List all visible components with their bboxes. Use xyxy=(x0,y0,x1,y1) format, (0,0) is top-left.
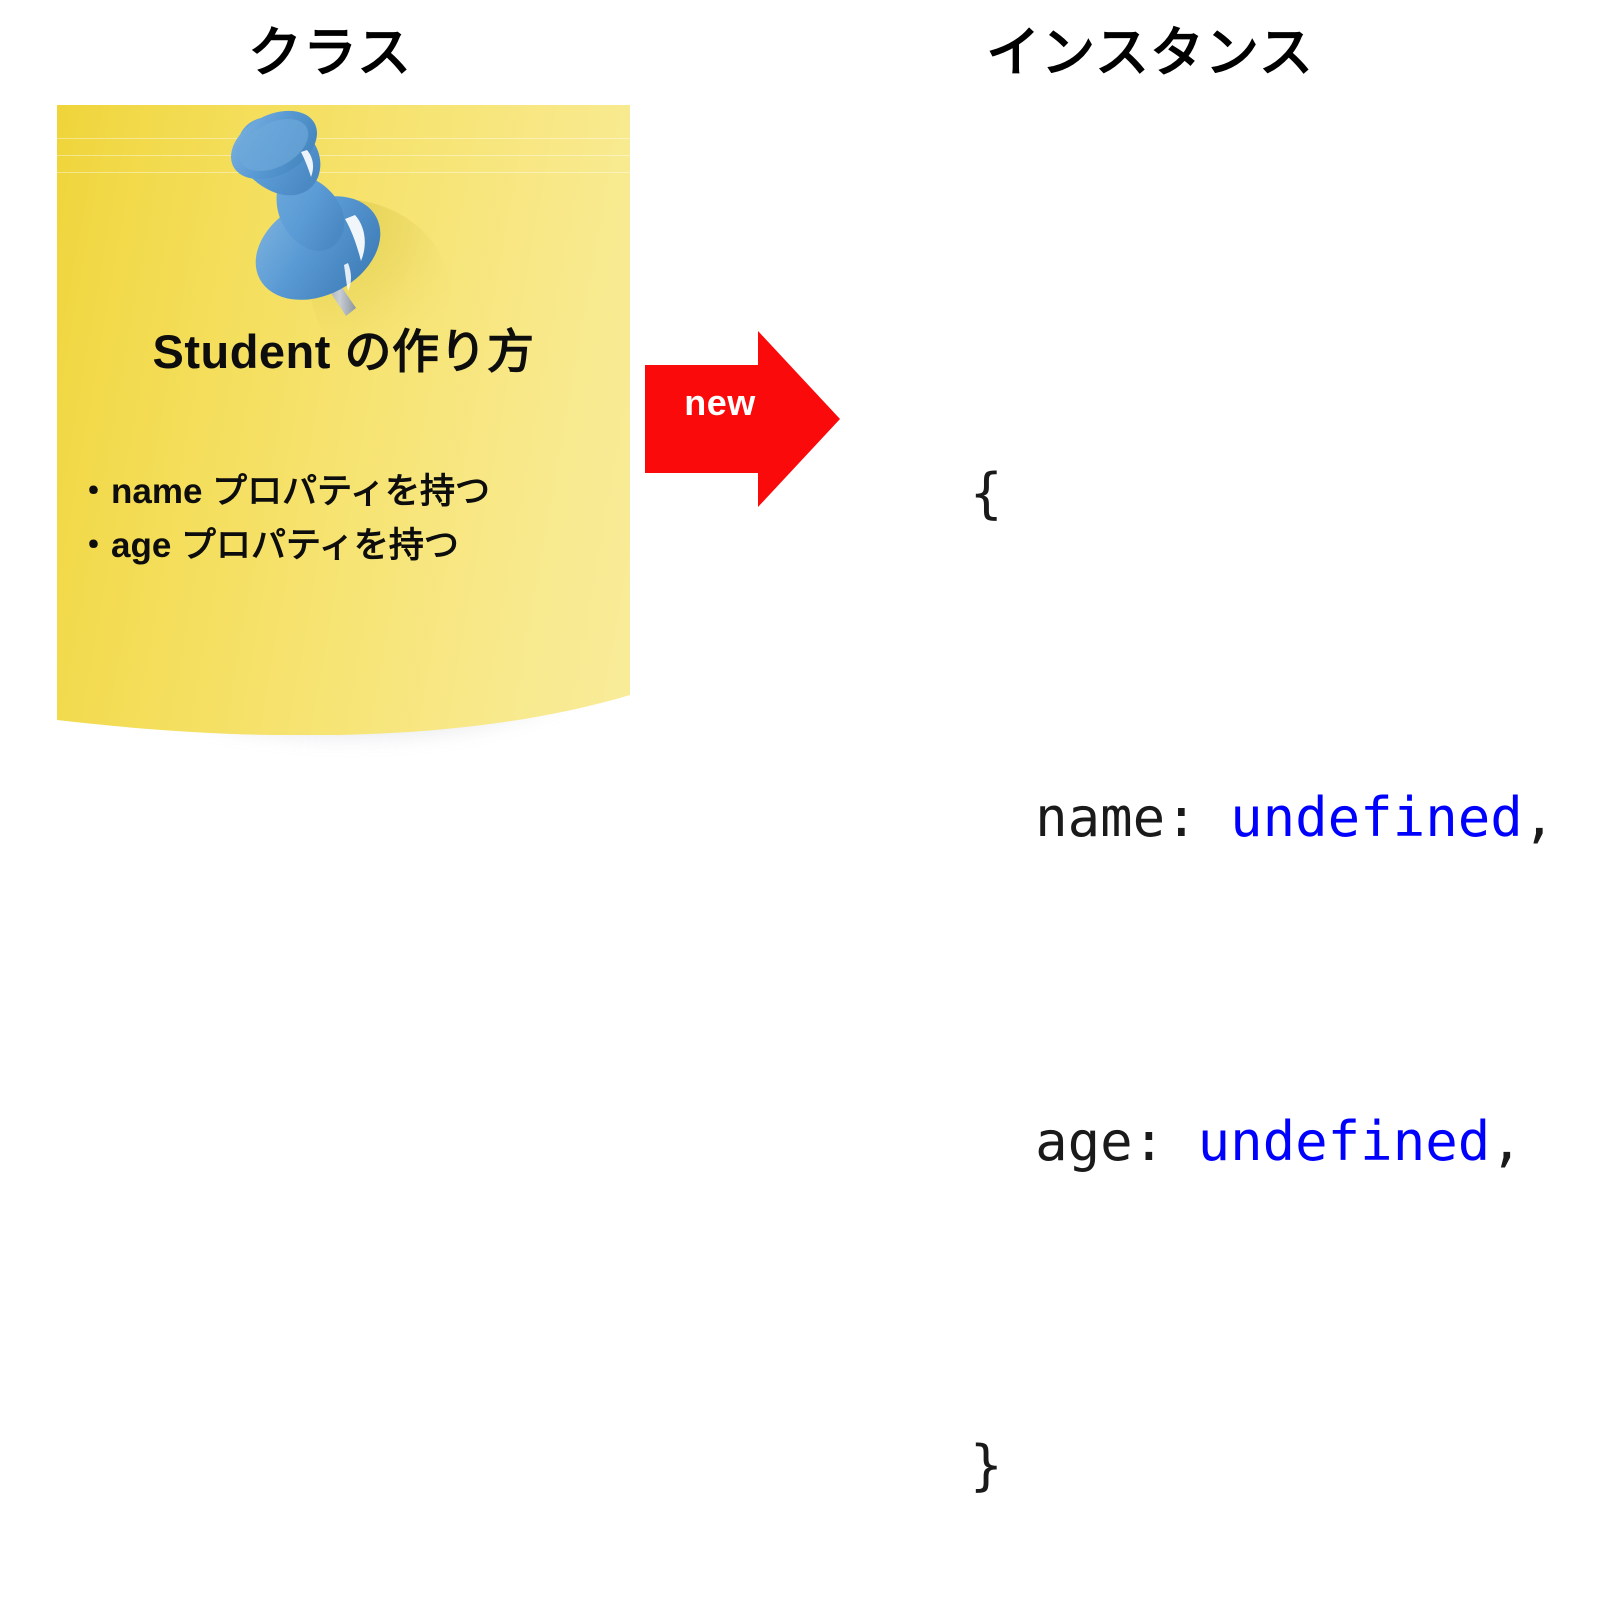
sticky-note-title: Student の作り方 xyxy=(57,313,630,382)
column-heading-instance: インスタンス xyxy=(700,26,1600,80)
code-value-name: undefined xyxy=(1230,786,1523,849)
code-key-age: age: xyxy=(970,1110,1198,1173)
sticky-note-bullet-list: ・name プロパティを持つ ・age プロパティを持つ xyxy=(76,465,636,574)
code-line-age: age: undefined, xyxy=(840,1046,1555,1240)
code-value-age: undefined xyxy=(1198,1110,1491,1173)
code-brace-open: { xyxy=(970,462,1003,525)
code-line-name: name: undefined, xyxy=(840,722,1555,916)
note-rule-line xyxy=(57,138,630,139)
sticky-note-paper xyxy=(57,105,630,735)
new-arrow-label: new xyxy=(660,385,780,421)
code-comma: , xyxy=(1490,1110,1523,1173)
list-item: ・name プロパティを持つ xyxy=(76,465,636,519)
sticky-note: Student の作り方 ・name プロパティを持つ ・age プロパティを持… xyxy=(40,95,640,775)
code-line-close: } xyxy=(840,1370,1555,1564)
note-rule-line xyxy=(57,155,630,156)
column-heading-class: クラス xyxy=(0,26,660,80)
code-line-open: { xyxy=(840,398,1555,592)
code-comma: , xyxy=(1523,786,1556,849)
note-rule-line xyxy=(57,172,630,173)
code-brace-close: } xyxy=(970,1434,1003,1497)
list-item: ・age プロパティを持つ xyxy=(76,519,636,573)
code-key-name: name: xyxy=(970,786,1230,849)
instance-code-block: { name: undefined, age: undefined, } xyxy=(840,268,1555,1600)
